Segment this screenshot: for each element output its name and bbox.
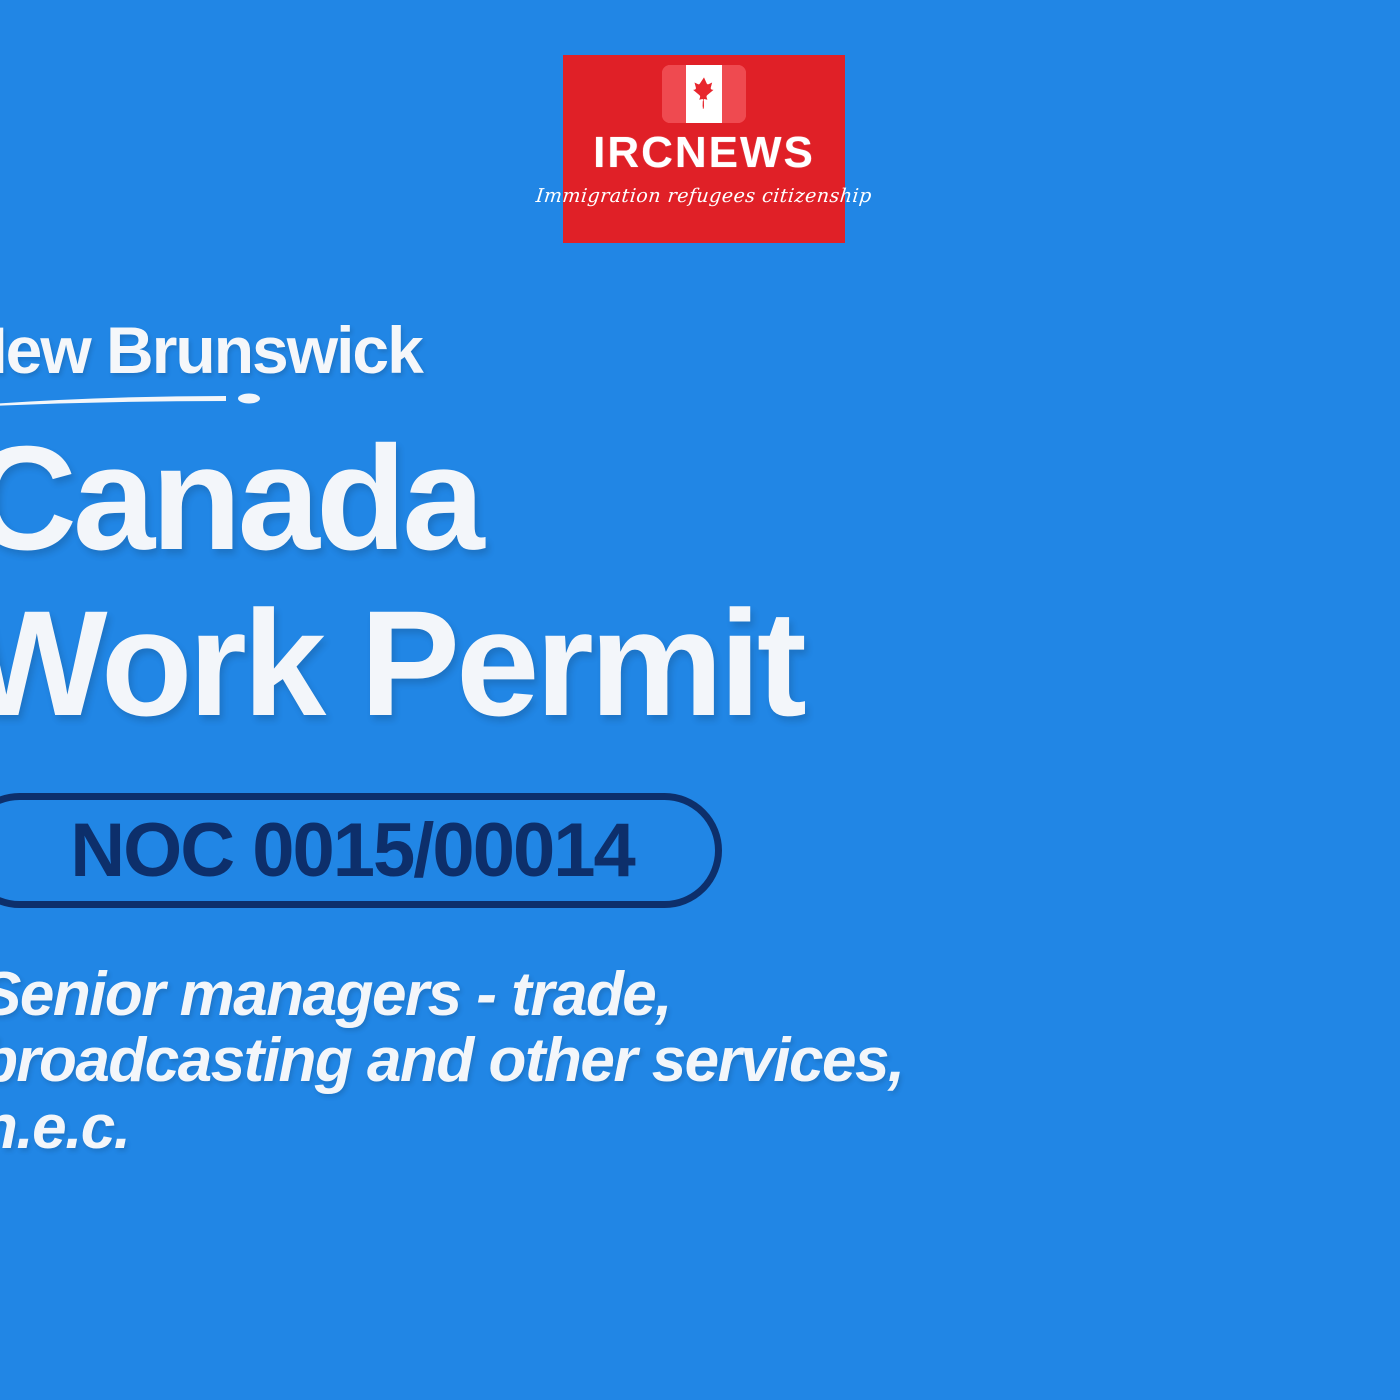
flag-left-band bbox=[662, 65, 686, 123]
province-kicker: New Brunswick bbox=[0, 312, 422, 388]
noc-badge[interactable]: NOC 0015/00014 bbox=[0, 793, 722, 908]
title-line-2: Work Permit bbox=[0, 588, 803, 738]
ircnews-logo[interactable]: IRCNEWS Immigration refugees citizenship bbox=[563, 55, 845, 243]
logo-brand-text: IRCNEWS bbox=[593, 131, 815, 175]
flag-right-band bbox=[722, 65, 746, 123]
title-line-1: Canada bbox=[0, 425, 481, 573]
description-line-2: broadcasting and other services, bbox=[0, 1028, 1240, 1094]
description-line-3: n.e.c. bbox=[0, 1095, 1240, 1161]
canada-flag-icon bbox=[662, 65, 746, 123]
logo-tagline-text: Immigration refugees citizenship bbox=[535, 185, 873, 207]
noc-badge-label: NOC 0015/00014 bbox=[70, 807, 634, 894]
maple-leaf-icon bbox=[687, 76, 721, 112]
poster-canvas: IRCNEWS Immigration refugees citizenship… bbox=[0, 0, 1400, 1400]
occupation-description: Senior managers - trade, broadcasting an… bbox=[0, 962, 1240, 1161]
description-line-1: Senior managers - trade, bbox=[0, 962, 1240, 1028]
flag-center-panel bbox=[686, 65, 722, 123]
brush-underline-icon bbox=[0, 392, 262, 408]
